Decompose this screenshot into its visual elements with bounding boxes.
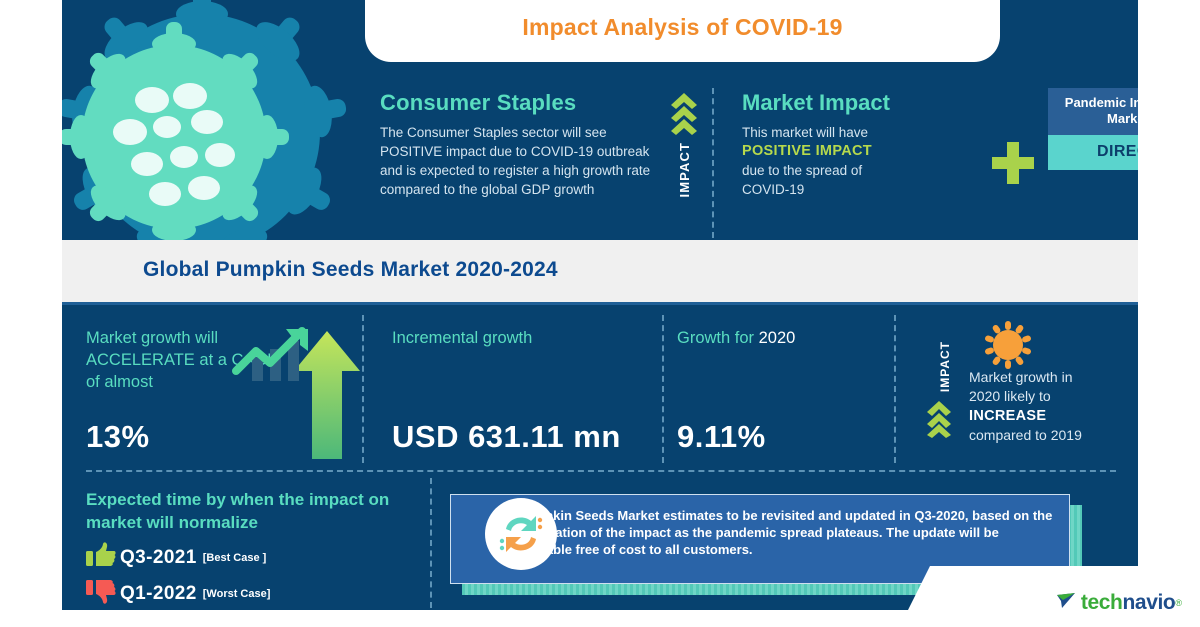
market-impact-block: Market Impact This market will have POSI… (742, 90, 962, 199)
case-row-worst: Q1-2022 [Worst Case] (86, 578, 416, 609)
market-impact-line1: This market will have (742, 123, 962, 142)
impact-emphasis: INCREASE (969, 408, 1046, 424)
impact-line3: compared to 2019 (969, 426, 1138, 445)
header-banner: Impact Analysis of COVID-19 (365, 0, 1000, 62)
infographic-canvas: Impact Analysis of COVID-19 Consumer Sta… (0, 0, 1200, 627)
market-impact-title: Market Impact (742, 90, 962, 116)
market-title: Global Pumpkin Seeds Market 2020-2024 (143, 258, 558, 282)
case-tag-best: [Best Case ] (203, 552, 267, 564)
callout-text: Pumpkin Seeds Market estimates to be rev… (517, 507, 1057, 558)
stat-growth-label-year: 2020 (759, 329, 796, 347)
normalize-title: Expected time by when the impact on mark… (86, 488, 416, 534)
impact-indicator-bottom: IMPACT (925, 341, 965, 438)
case-quarter-best: Q3-2021 (120, 547, 197, 569)
consumer-staples-block: Consumer Staples The Consumer Staples se… (380, 90, 670, 199)
infographic-body: Impact Analysis of COVID-19 Consumer Sta… (62, 0, 1138, 610)
page-title: Impact Analysis of COVID-19 (365, 14, 1000, 41)
normalize-block: Expected time by when the impact on mark… (86, 488, 416, 610)
stat-cagr-value: 13% (86, 419, 150, 455)
market-impact-line2: due to the spread of (742, 161, 962, 180)
market-impact-line3: COVID-19 (742, 180, 962, 199)
pandemic-impact-heading: Pandemic Impact on Market (1048, 88, 1138, 135)
impact-label-top: IMPACT (677, 142, 692, 197)
thumbs-down-icon (86, 578, 120, 609)
stat-growth-value: 9.11% (677, 419, 766, 455)
refresh-icon (484, 497, 558, 576)
impact-description: Market growth in 2020 likely to INCREASE… (969, 368, 1138, 445)
technavio-logo-part2: navio (1123, 591, 1176, 615)
virus-orange-icon (982, 319, 1034, 371)
divider-stats-2 (662, 315, 664, 463)
pandemic-impact-value: DIRECT (1048, 135, 1138, 170)
chevron-up-stack-icon (669, 92, 699, 136)
chevron-up-stack-icon-2 (925, 400, 953, 438)
technavio-logo-part1: tech (1081, 591, 1123, 615)
divider-top-vertical (712, 88, 714, 238)
pandemic-impact-card: Pandemic Impact on Market DIRECT (1048, 88, 1138, 170)
stat-growth-2020: Growth for 2020 9.11% (677, 327, 907, 349)
divider-bottom-vertical (430, 478, 432, 608)
impact-line2: 2020 likely to (969, 387, 1138, 406)
stat-impact-block: IMPACT Market growth in 2020 likely to I… (907, 313, 1137, 463)
impact-line1: Market growth in (969, 368, 1138, 387)
impact-label-bottom: IMPACT (938, 341, 952, 392)
case-tag-worst: [Worst Case] (203, 588, 271, 600)
stat-incremental-label: Incremental growth (392, 327, 652, 349)
case-row-best: Q3-2021 [Best Case ] (86, 542, 416, 573)
technavio-mark-icon (1056, 592, 1076, 614)
stat-growth-label: Growth for 2020 (677, 327, 907, 349)
consumer-staples-body: The Consumer Staples sector will see POS… (380, 123, 670, 199)
plus-icon (992, 142, 1034, 184)
growth-chart-icon (230, 327, 320, 385)
market-impact-highlight: POSITIVE IMPACT (742, 142, 962, 161)
technavio-logo: technavio® (1056, 591, 1182, 615)
case-quarter-worst: Q1-2022 (120, 583, 197, 605)
consumer-staples-title: Consumer Staples (380, 90, 670, 116)
technavio-logo-tm: ® (1175, 598, 1182, 608)
stat-incremental-value: USD 631.11 mn (392, 419, 621, 455)
divider-stats-3 (894, 315, 896, 463)
band-rule (62, 302, 1138, 305)
divider-horizontal (86, 470, 1116, 472)
impact-indicator-top: IMPACT (657, 92, 711, 227)
stats-row: Market growth will ACCELERATE at a CAGR … (62, 305, 1138, 465)
stat-growth-label-mint: Growth for (677, 329, 759, 347)
stat-incremental: Incremental growth USD 631.11 mn (392, 327, 652, 349)
market-title-band: Global Pumpkin Seeds Market 2020-2024 (62, 240, 1138, 302)
thumbs-up-icon (86, 542, 120, 573)
divider-stats-1 (362, 315, 364, 463)
